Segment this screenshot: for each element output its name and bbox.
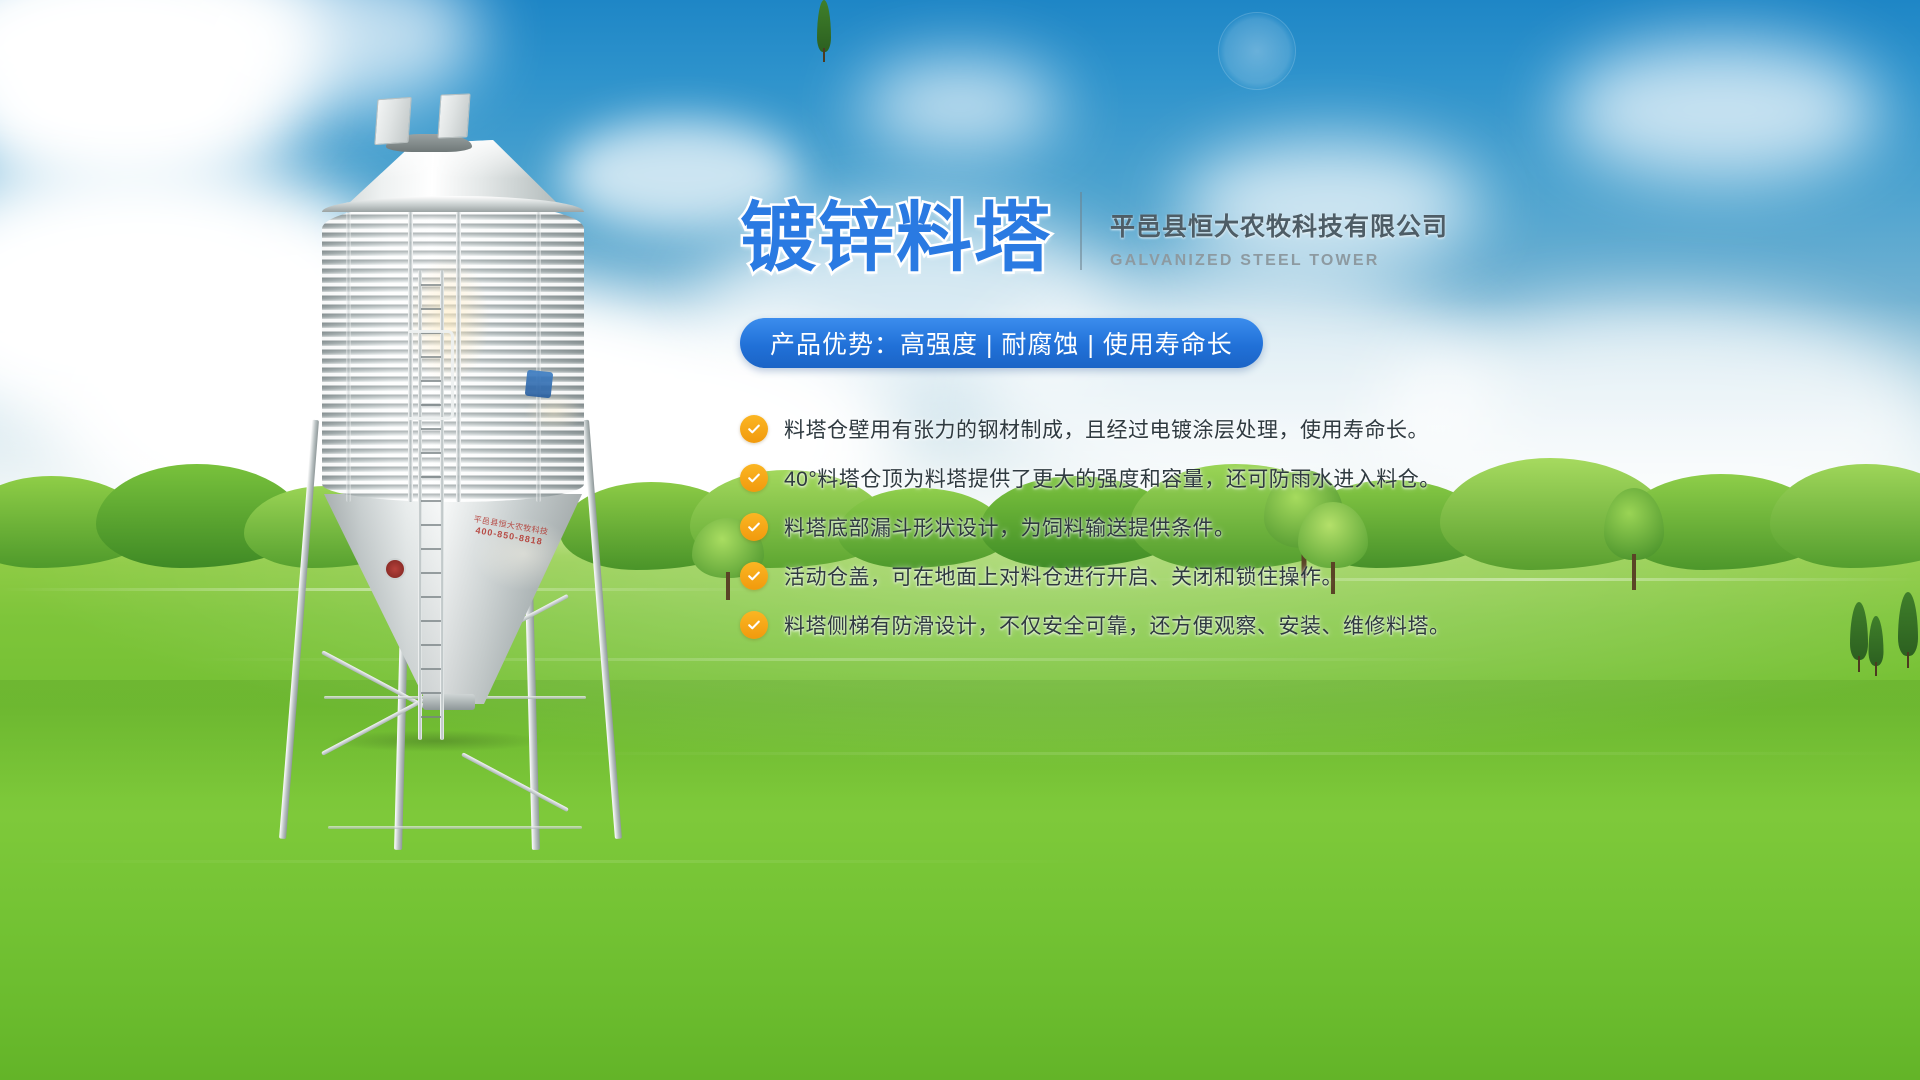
subtitle-english: GALVANIZED STEEL TOWER [1110, 252, 1448, 270]
title-row: 镀锌料塔 平邑县恒大农牧科技有限公司 GALVANIZED STEEL TOWE… [740, 192, 1860, 276]
feature-text: 料塔仓壁用有张力的钢材制成，且经过电镀涂层处理，使用寿命长。 [784, 414, 1429, 444]
blue-collar-fitting [525, 370, 554, 399]
feature-text: 料塔侧梯有防滑设计，不仅安全可靠，还方便观察、安装、维修料塔。 [784, 610, 1451, 640]
product-advantage-badge[interactable]: 产品优势：高强度 | 耐腐蚀 | 使用寿命长 [740, 318, 1263, 368]
list-item: 料塔底部漏斗形状设计，为饲料输送提供条件。 [740, 512, 1860, 542]
page-title: 镀锌料塔 [740, 200, 1052, 276]
list-item: 料塔仓壁用有张力的钢材制成，且经过电镀涂层处理，使用寿命长。 [740, 414, 1860, 444]
company-name: 平邑县恒大农牧科技有限公司 [1110, 207, 1448, 243]
cross-brace [328, 826, 582, 829]
check-circle-icon [740, 611, 768, 639]
feature-text: 40°料塔仓顶为料塔提供了更大的强度和容量，还可防雨水进入料仓。 [784, 463, 1441, 493]
galvanized-feed-silo: 平邑县恒大农牧科技 400-850-8818 [300, 90, 600, 750]
check-circle-icon [740, 464, 768, 492]
cypress-tree [1866, 616, 1886, 680]
body-seam [346, 202, 351, 502]
body-seam [536, 202, 541, 502]
roof-hatch [374, 97, 411, 145]
feature-list: 料塔仓壁用有张力的钢材制成，且经过电镀涂层处理，使用寿命长。 40°料塔仓顶为料… [740, 414, 1860, 640]
check-circle-icon [740, 415, 768, 443]
ladder-safety-cage [408, 330, 454, 420]
lens-flare-icon [1218, 12, 1296, 90]
content-panel: 镀锌料塔 平邑县恒大农牧科技有限公司 GALVANIZED STEEL TOWE… [740, 192, 1860, 659]
feature-text: 活动仓盖，可在地面上对料仓进行开启、关闭和锁住操作。 [784, 561, 1343, 591]
list-item: 40°料塔仓顶为料塔提供了更大的强度和容量，还可防雨水进入料仓。 [740, 463, 1860, 493]
list-item: 活动仓盖，可在地面上对料仓进行开启、关闭和锁住操作。 [740, 561, 1860, 591]
body-seam [456, 202, 461, 502]
list-item: 料塔侧梯有防滑设计，不仅安全可靠，还方便观察、安装、维修料塔。 [740, 610, 1860, 640]
roof-hatch [437, 93, 470, 138]
hopper-valve [386, 560, 404, 578]
check-circle-icon [740, 562, 768, 590]
cypress-tree [1896, 592, 1920, 672]
check-circle-icon [740, 513, 768, 541]
title-divider [1080, 192, 1082, 270]
banner-stage: 平邑县恒大农牧科技 400-850-8818 [0, 0, 1920, 1080]
company-block: 平邑县恒大农牧科技有限公司 GALVANIZED STEEL TOWER [1110, 207, 1448, 276]
cross-brace [321, 696, 429, 756]
feature-text: 料塔底部漏斗形状设计，为饲料输送提供条件。 [784, 512, 1236, 542]
